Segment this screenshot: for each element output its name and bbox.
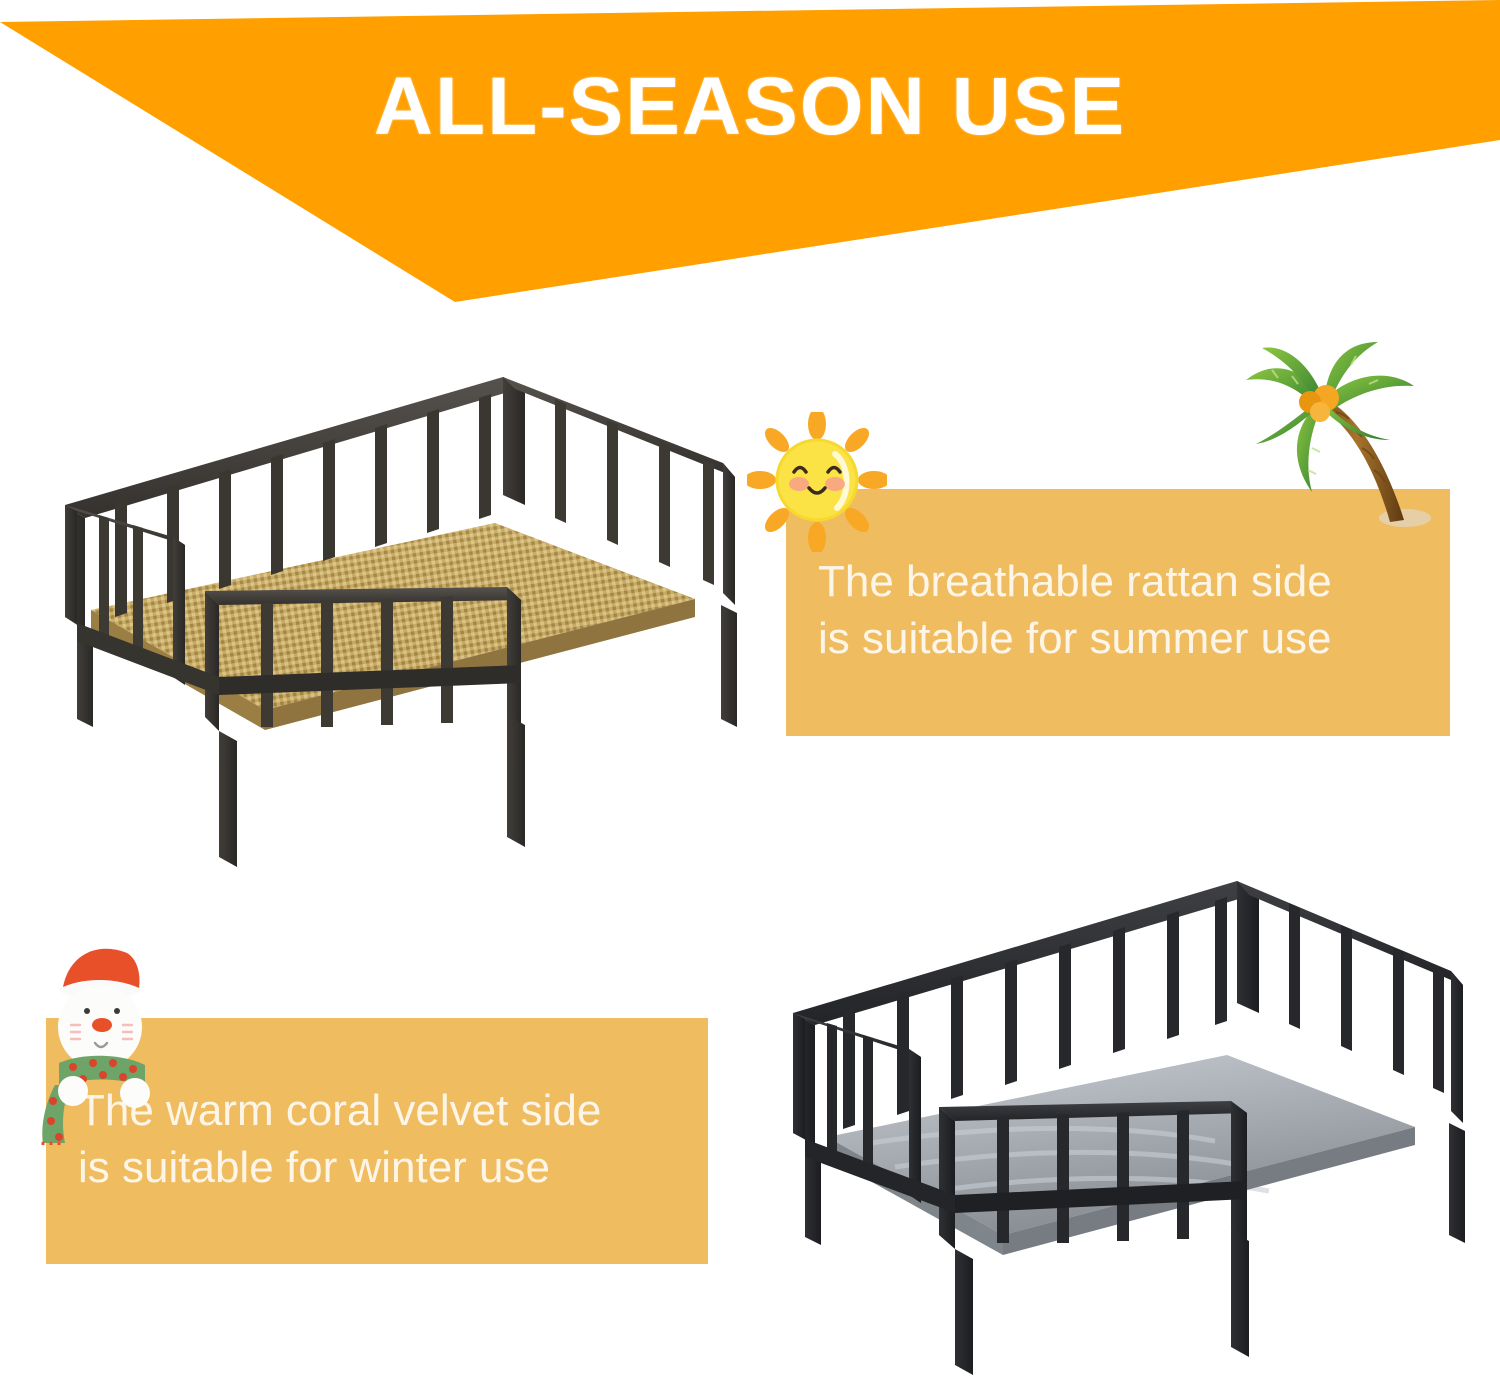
pet-bed-velvet-illustration xyxy=(775,845,1475,1375)
header-banner-shape xyxy=(0,0,1500,320)
page-title: ALL-SEASON USE xyxy=(0,66,1500,148)
snowman-glyph xyxy=(25,945,175,1145)
smiling-sun-glyph xyxy=(747,412,887,552)
sun-icon xyxy=(747,412,887,552)
palm-tree-icon xyxy=(1232,340,1437,540)
pet-bed-rattan-illustration xyxy=(55,355,745,895)
snowman-icon xyxy=(25,945,175,1145)
pet-bed-rattan-photo xyxy=(55,355,745,895)
pet-bed-velvet-photo xyxy=(775,845,1475,1375)
all-season-use-infographic: ALL-SEASON USE xyxy=(0,0,1500,1388)
palm-tree-glyph xyxy=(1232,340,1437,540)
header-banner xyxy=(0,0,1500,320)
summer-caption-text: The breathable rattan side is suitable f… xyxy=(818,553,1438,667)
